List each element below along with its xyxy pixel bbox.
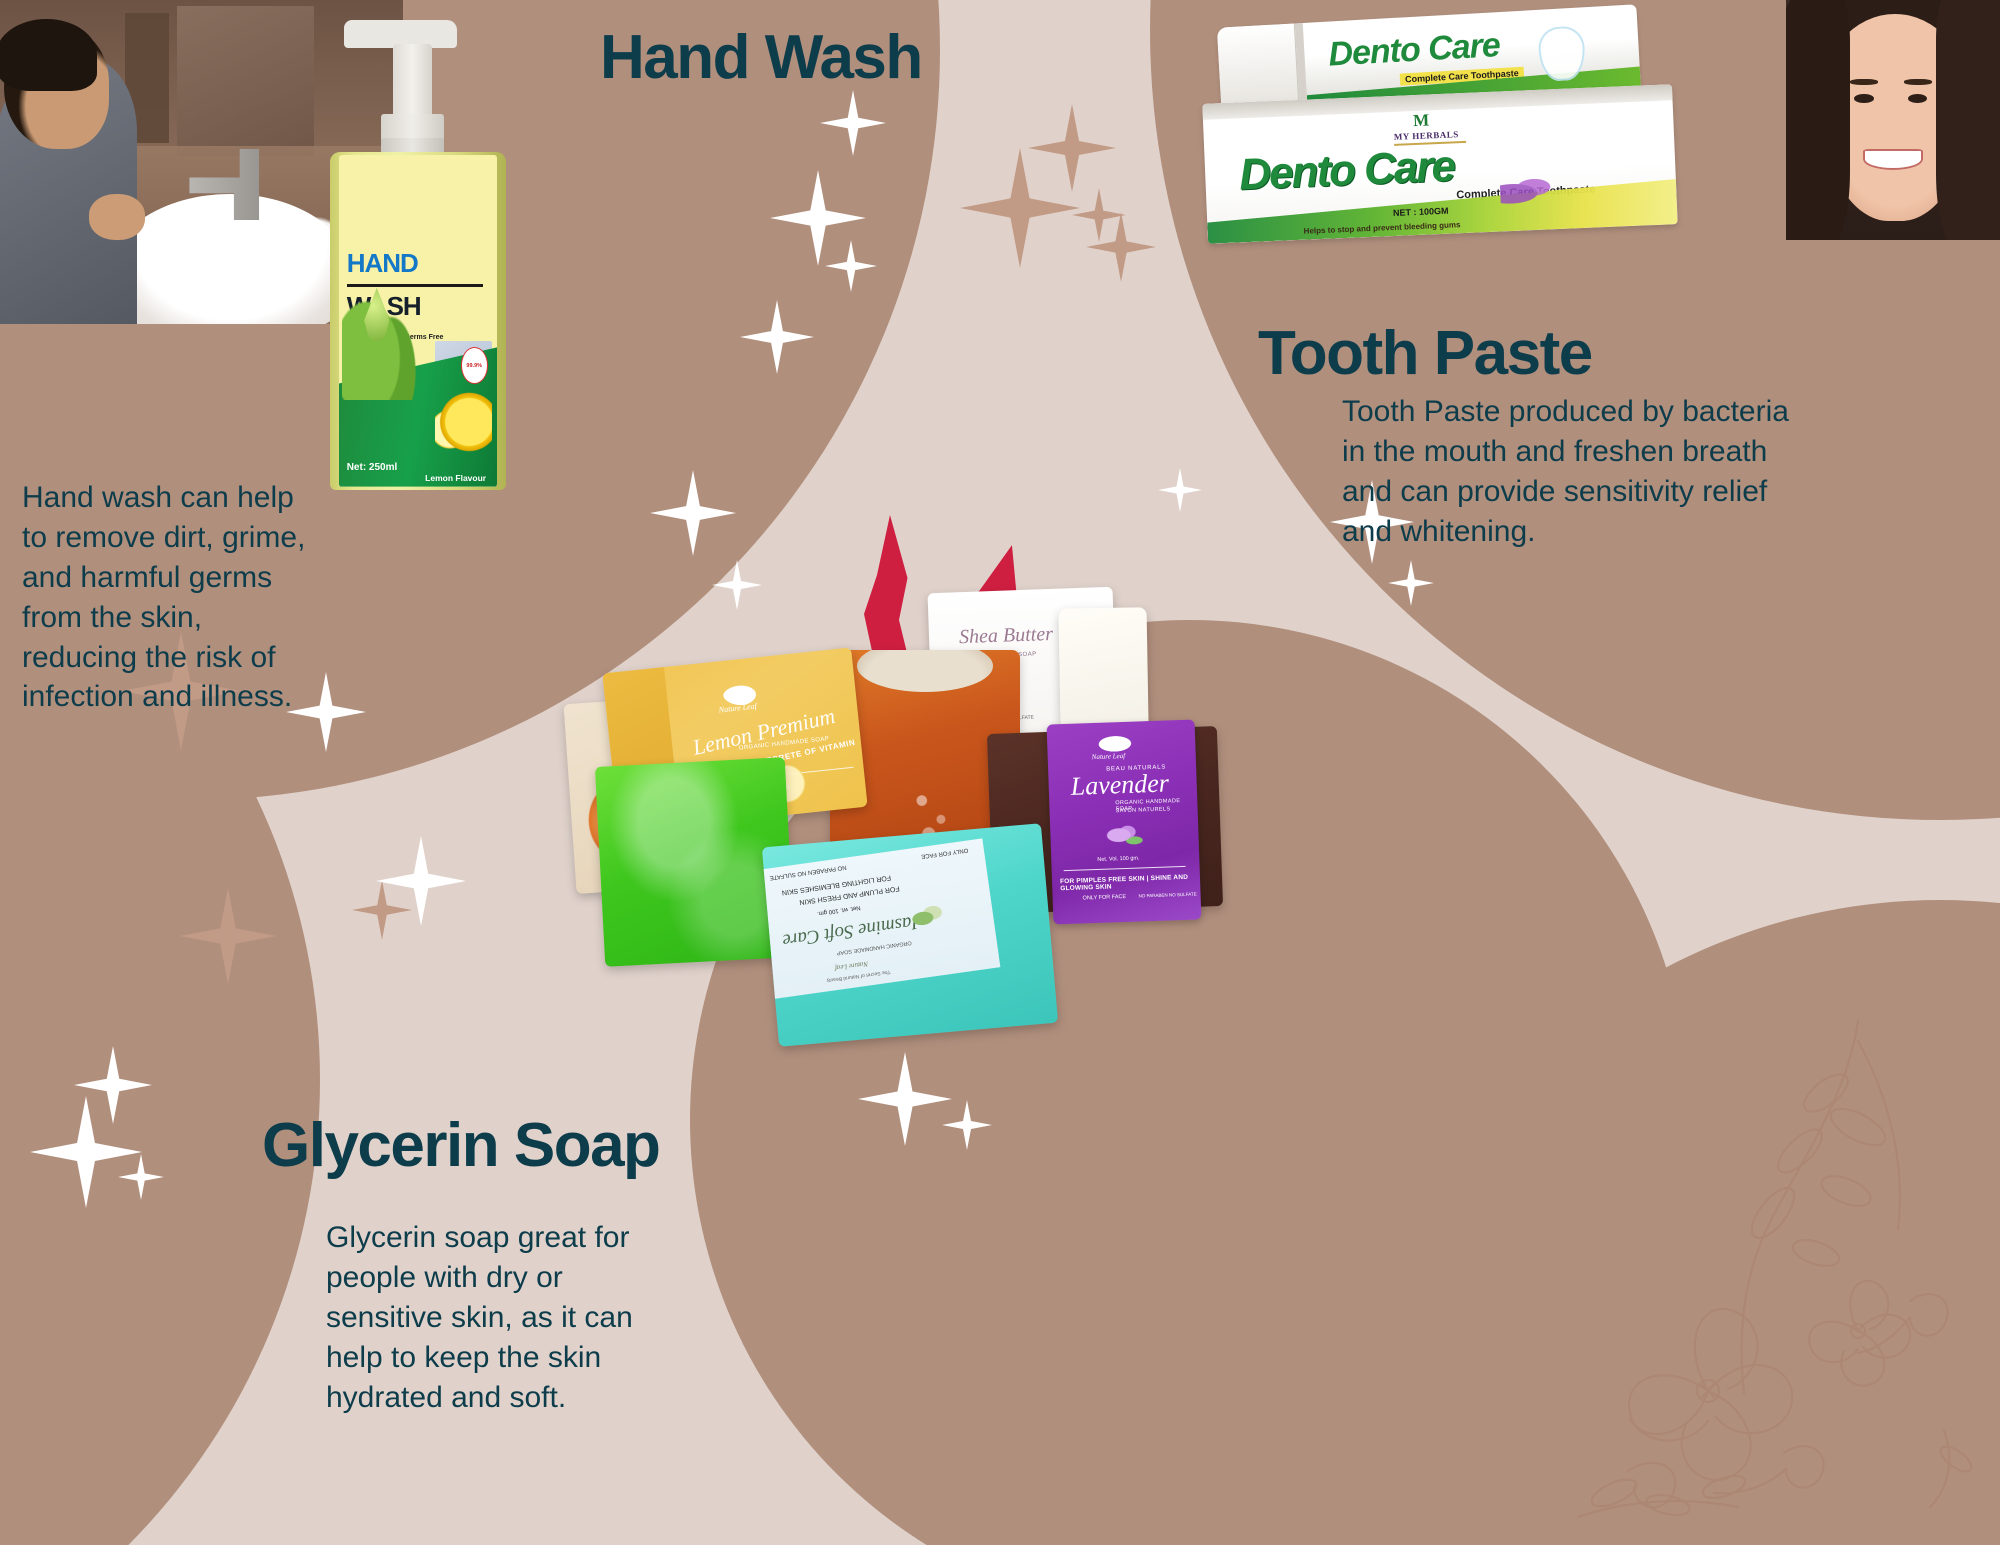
- tube-product-name: Dento Care: [1327, 26, 1500, 75]
- germ-protection-badge: 99.9%: [461, 347, 488, 383]
- woman-eyebrow-right: [1904, 79, 1932, 85]
- jasmine-no-paraben: NO PARABEN NO SULFATE: [769, 864, 847, 881]
- soap-foam: [857, 650, 994, 692]
- jasmine-net-weight: Net. wt. 100 gm.: [817, 904, 861, 916]
- lemon-illustration: [435, 384, 492, 457]
- sparkle-icon: [942, 1100, 992, 1150]
- paragraph-hand-wash: Hand wash can help to remove dirt, grime…: [22, 478, 442, 717]
- child-hands: [89, 194, 145, 239]
- heading-hand-wash: Hand Wash: [600, 22, 922, 93]
- lavender-brand-logo-icon: [1097, 731, 1140, 752]
- water-stream: [202, 207, 214, 272]
- product-soap-collection: Shea Butter PURE NOURISHING SOAP 100 gm …: [560, 500, 1280, 1080]
- pump-neck: [393, 44, 432, 124]
- shea-name: Shea Butter: [959, 623, 1054, 649]
- child-hair: [0, 19, 97, 90]
- product-handwash-bottle: HAND WASH Make Your Hand Germs Free Soft…: [330, 20, 506, 490]
- soap-lavender-wrapper: Nature Leaf BEAU NATURALS Lavender ORGAN…: [1047, 719, 1202, 924]
- jasmine-only-for-face: ONLY FOR FACE: [920, 847, 968, 860]
- lavender-rule: [1064, 866, 1186, 871]
- sparkle-icon: [352, 880, 412, 940]
- paragraph-tooth-paste: Tooth Paste produced by bacteria in the …: [1342, 392, 1992, 552]
- bathroom-mirror: [177, 6, 314, 155]
- lavender-subtitle-2: SAVON NATURELS: [1116, 806, 1171, 814]
- product-toothpaste-pack: Dento Care Complete Care Toothpaste M MY…: [1205, 12, 1725, 242]
- sparkle-icon: [820, 90, 886, 156]
- paragraph-glycerin-soap: Glycerin soap great for people with dry …: [326, 1218, 796, 1417]
- lavender-sprig-illustration: [1094, 821, 1159, 859]
- sparkle-icon: [960, 148, 1080, 268]
- lavender-usage-note: ONLY FOR FACE: [1083, 894, 1127, 902]
- lavender-net-weight: Net. Vol. 100 gm.: [1097, 855, 1139, 862]
- poster-canvas: HAND WASH Make Your Hand Germs Free Soft…: [0, 0, 2000, 1545]
- bottle-body: HAND WASH Make Your Hand Germs Free Soft…: [330, 152, 506, 490]
- sparkle-icon: [1388, 560, 1434, 606]
- brand-name: MY HERBALS: [1394, 129, 1459, 142]
- sparkle-icon: [740, 300, 814, 374]
- brand-monogram-letter: M: [1413, 110, 1430, 131]
- sparkle-icon: [180, 888, 276, 984]
- herb-illustration: [1500, 175, 1557, 205]
- lavender-brand: Nature Leaf: [1092, 752, 1126, 761]
- woman-hair-left: [1786, 0, 1850, 240]
- handwash-net-volume: Net: 250ml: [347, 462, 398, 473]
- sparkle-icon: [1028, 104, 1116, 192]
- sparkle-icon: [30, 1096, 142, 1208]
- woman-hair-right: [1936, 0, 2000, 240]
- lavender-name: Lavender: [1070, 768, 1169, 801]
- woman-eye-left: [1854, 94, 1873, 104]
- lavender-claim: FOR PIMPLES FREE SKIN | SHINE AND GLOWIN…: [1060, 873, 1200, 892]
- heading-tooth-paste: Tooth Paste: [1258, 318, 1592, 389]
- bottle-label: HAND WASH Make Your Hand Germs Free Soft…: [339, 155, 497, 487]
- sparkle-icon: [825, 240, 877, 292]
- lavender-paraben-note: NO PARABEN NO SULFATE: [1139, 892, 1197, 899]
- jasmine-brand: Nature Leaf: [834, 960, 868, 973]
- photo-smiling-woman: [1786, 0, 2000, 240]
- carton-product-name: Dento Care: [1238, 141, 1455, 200]
- sparkle-icon: [118, 1154, 164, 1200]
- jasmine-wrapper-band: ONLY FOR FACE NO PARABEN NO SULFATE FOR …: [762, 838, 1001, 999]
- jasmine-leaf-illustration: [905, 900, 949, 935]
- lemon-brand: Nature Leaf: [718, 702, 757, 715]
- heading-glycerin-soap: Glycerin Soap: [262, 1110, 659, 1181]
- soap-jasmine-bar: ONLY FOR FACE NO PARABEN NO SULFATE FOR …: [762, 823, 1058, 1047]
- toothpaste-carton: M MY HERBALS Dento Care Complete Care To…: [1202, 84, 1677, 244]
- red-flame-decoration-1: [860, 515, 910, 665]
